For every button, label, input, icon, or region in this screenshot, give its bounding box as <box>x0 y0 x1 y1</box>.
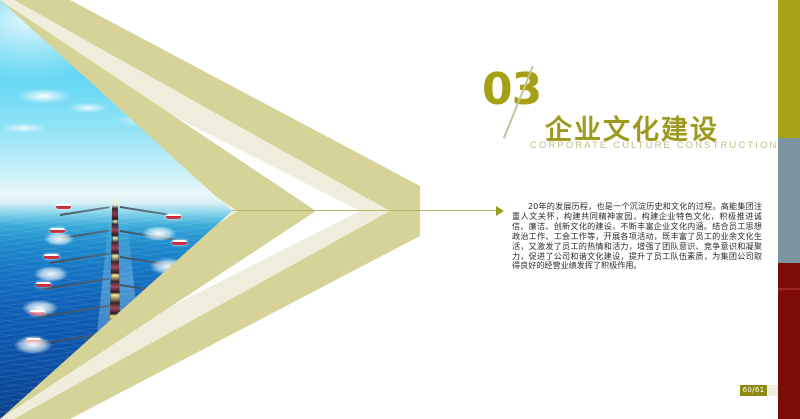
water-splash <box>14 336 52 354</box>
oar-blade <box>44 254 59 259</box>
edge-bar-slate <box>778 138 800 263</box>
oar-blade <box>172 240 187 245</box>
oar-blade <box>36 282 51 287</box>
edge-bar-olive <box>778 0 800 138</box>
section-heading: 03 企业文化建设 CORPORATE CULTURE CONSTRUCTION <box>470 68 770 164</box>
connector-line <box>232 210 498 211</box>
water-splash <box>22 300 58 316</box>
brochure-page: 03 企业文化建设 CORPORATE CULTURE CONSTRUCTION… <box>0 0 800 419</box>
section-title-en: CORPORATE CULTURE CONSTRUCTION <box>530 140 778 151</box>
page-number-badge: 60/61 <box>740 385 767 396</box>
oar-blade <box>200 356 215 361</box>
section-number: 03 <box>482 68 541 112</box>
edge-bar-red <box>778 263 800 419</box>
edge-bar-red-divider <box>778 288 800 290</box>
water-splash <box>44 232 74 246</box>
water-splash <box>34 266 68 282</box>
body-paragraph: 20年的发展历程，也是一个沉淀历史和文化的过程。高能集团注重人文关怀，构建共同精… <box>512 202 762 271</box>
water-splash <box>142 226 176 241</box>
oar-blade <box>166 214 181 219</box>
oar-blade <box>56 204 71 209</box>
arrow-head-icon <box>496 206 504 216</box>
